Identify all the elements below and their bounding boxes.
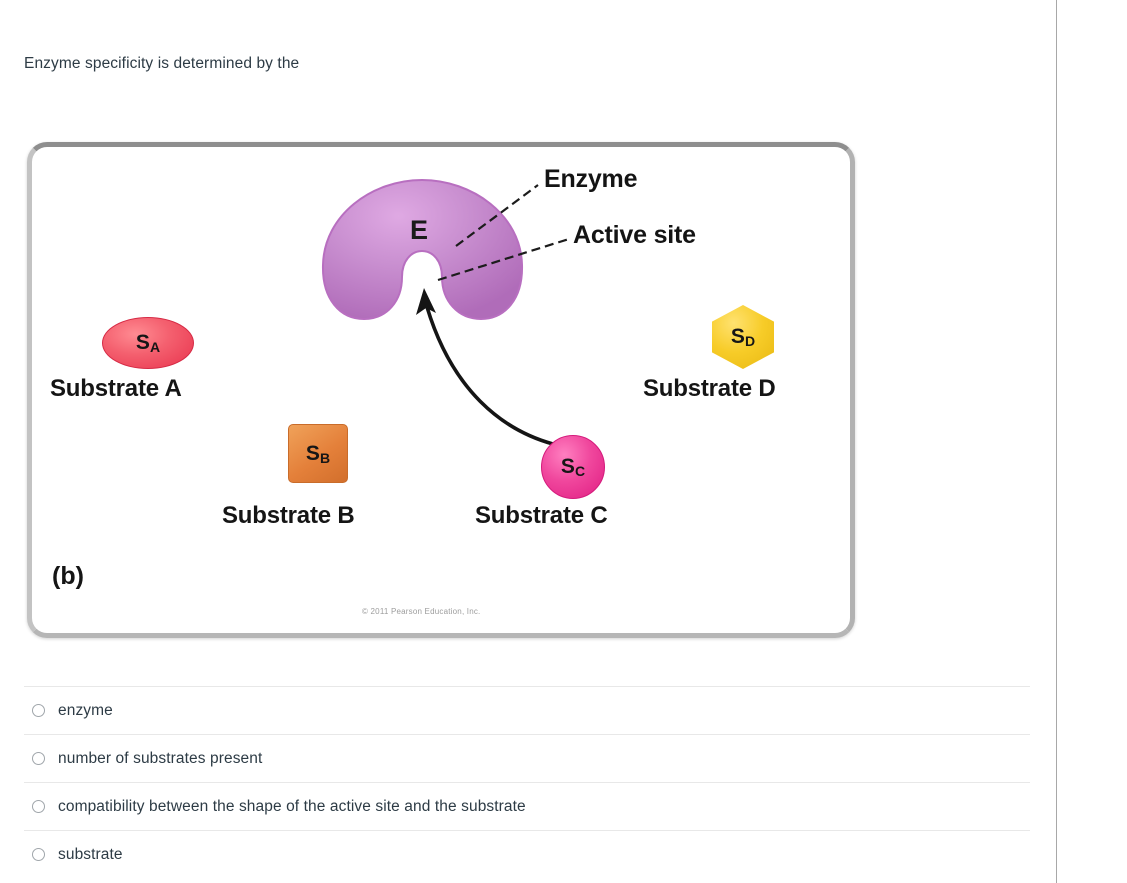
substrate-d-glyph: SD [712, 305, 774, 369]
enzyme-label: Enzyme [544, 165, 637, 194]
radio-button-compatibility[interactable] [32, 800, 45, 813]
substrate-d-caption: Substrate D [643, 375, 776, 403]
radio-button-number-of-substrates[interactable] [32, 752, 45, 765]
answer-option-substrate[interactable]: substrate [24, 830, 1030, 878]
substrate-d-symbol: S [731, 325, 745, 349]
substrate-c-symbol: S [561, 455, 575, 479]
answer-option-label: compatibility between the shape of the a… [58, 797, 526, 817]
substrate-a-glyph: SA [102, 317, 194, 369]
substrate-a-symbol: S [136, 331, 150, 355]
answer-option-label: number of substrates present [58, 749, 262, 769]
substrate-c-arrow-shaft [427, 307, 553, 444]
figure-canvas: E Enzyme Active site SA Substrate A SB S… [32, 147, 850, 633]
enzyme-letter: E [410, 215, 428, 246]
substrate-c-caption: Substrate C [475, 502, 608, 530]
question-prompt: Enzyme specificity is determined by the [24, 52, 299, 76]
page-divider [1056, 0, 1057, 883]
substrate-a-subscript: A [150, 339, 160, 355]
answer-option-number-of-substrates[interactable]: number of substrates present [24, 734, 1030, 782]
figure-credit: © 2011 Pearson Education, Inc. [362, 607, 480, 616]
substrate-c-subscript: C [575, 463, 585, 479]
substrate-d-subscript: D [745, 333, 755, 349]
answer-option-label: substrate [58, 845, 123, 865]
answer-option-enzyme[interactable]: enzyme [24, 686, 1030, 734]
answer-option-label: enzyme [58, 701, 113, 721]
substrate-b-symbol: S [306, 442, 320, 466]
substrate-b-glyph: SB [288, 424, 348, 483]
substrate-b-caption: Substrate B [222, 502, 355, 530]
enzyme-shape [312, 177, 532, 322]
figure-container: E Enzyme Active site SA Substrate A SB S… [27, 142, 855, 638]
radio-button-enzyme[interactable] [32, 704, 45, 717]
panel-letter: (b) [52, 562, 84, 591]
answer-option-compatibility[interactable]: compatibility between the shape of the a… [24, 782, 1030, 830]
radio-button-substrate[interactable] [32, 848, 45, 861]
substrate-c-glyph: SC [541, 435, 605, 499]
substrate-a-caption: Substrate A [50, 375, 182, 403]
answer-options-list: enzyme number of substrates present comp… [24, 686, 1030, 878]
substrate-b-subscript: B [320, 450, 330, 466]
active-site-label: Active site [573, 221, 696, 250]
